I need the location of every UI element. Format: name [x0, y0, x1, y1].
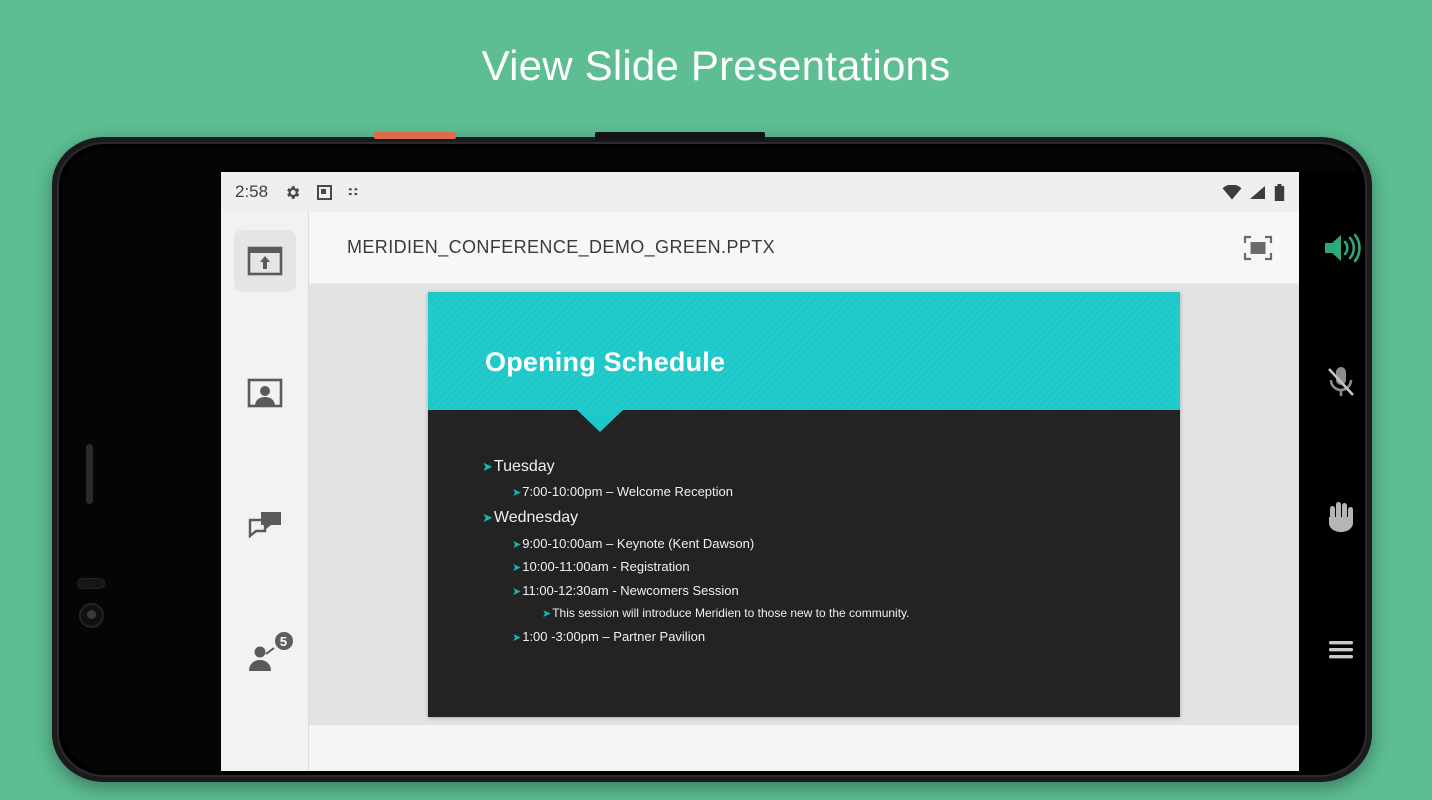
slide-bullet-text: 1:00 -3:00pm – Partner Pavilion [522, 629, 705, 646]
slide-bullet: ➤ 7:00-10:00pm – Welcome Reception [512, 484, 1140, 501]
sidebar-item-chat[interactable] [234, 494, 296, 556]
slide-bullet: ➤ 11:00-12:30am - Newcomers Session [512, 583, 1140, 600]
slide-bullet-text: 9:00-10:00am – Keynote (Kent Dawson) [522, 536, 754, 553]
signal-icon [1249, 185, 1267, 200]
main-pane: MERIDIEN_CONFERENCE_DEMO_GREEN.PPTX [309, 212, 1299, 771]
sidebar-item-participants[interactable]: 5 [234, 626, 296, 688]
bullet-arrow-icon: ➤ [512, 486, 519, 500]
slide-bullet: ➤ 1:00 -3:00pm – Partner Pavilion [512, 629, 1140, 646]
slide-bullet-text: 7:00-10:00pm – Welcome Reception [522, 484, 733, 501]
app-screen: 2:58 [221, 172, 1299, 771]
phone-frame: 2:58 [52, 137, 1372, 782]
menu-icon [1321, 632, 1361, 668]
gear-icon [284, 184, 301, 201]
slide-bullet-text: Wednesday [494, 508, 578, 528]
app-body: 5 MERIDIEN_CONFERENCE_DEMO_GREEN.PPTX [221, 212, 1299, 771]
status-clock: 2:58 [235, 182, 268, 202]
slide[interactable]: Opening Schedule ➤ Tuesday ➤ 7:00-10:00p… [428, 292, 1180, 717]
more-menu-button[interactable] [1313, 622, 1361, 678]
slide-bullet: ➤ Wednesday [482, 508, 1140, 528]
speaker-grille [86, 444, 93, 504]
front-camera [79, 603, 104, 628]
slide-title: Opening Schedule [485, 347, 725, 378]
battery-icon [1274, 184, 1285, 201]
sidebar-item-video[interactable] [234, 362, 296, 424]
cast-icon [317, 185, 332, 200]
speaker-button[interactable] [1313, 220, 1361, 276]
left-rail: 5 [221, 212, 309, 771]
microphone-muted-icon [1321, 364, 1361, 400]
power-button[interactable] [595, 132, 765, 141]
page-title: View Slide Presentations [0, 0, 1432, 132]
slide-bullet-text: This session will introduce Meridien to … [552, 606, 909, 621]
slide-bullet: ➤ 9:00-10:00am – Keynote (Kent Dawson) [512, 536, 1140, 553]
share-screen-icon [247, 245, 283, 277]
raise-hand-icon [1321, 498, 1361, 534]
video-participant-icon [247, 377, 283, 409]
status-bar: 2:58 [221, 172, 1299, 212]
participants-badge: 5 [273, 630, 295, 652]
viewport-footer [309, 724, 1299, 771]
document-header: MERIDIEN_CONFERENCE_DEMO_GREEN.PPTX [309, 212, 1299, 284]
phone-screen: 2:58 [63, 148, 1361, 771]
sidebar-item-share-screen[interactable] [234, 230, 296, 292]
chat-icon [247, 509, 283, 541]
slide-viewport: Opening Schedule ➤ Tuesday ➤ 7:00-10:00p… [309, 284, 1299, 724]
bullet-arrow-icon: ➤ [482, 510, 491, 527]
slide-bullet: ➤ Tuesday [482, 457, 1140, 477]
volume-button[interactable] [374, 132, 456, 139]
slide-bullet-text: 11:00-12:30am - Newcomers Session [522, 583, 739, 600]
document-title: MERIDIEN_CONFERENCE_DEMO_GREEN.PPTX [347, 237, 1243, 258]
fullscreen-icon[interactable] [1243, 235, 1273, 261]
wifi-icon [1222, 185, 1242, 200]
call-controls-rail [1299, 172, 1361, 771]
slide-bullet: ➤ 10:00-11:00am - Registration [512, 559, 1140, 576]
phone-bezel: 2:58 [57, 142, 1367, 777]
slide-bullet-text: 10:00-11:00am - Registration [522, 559, 689, 576]
bullet-arrow-icon: ➤ [482, 459, 491, 476]
dots-icon [348, 187, 361, 197]
slide-bullet: ➤ This session will introduce Meridien t… [542, 606, 1140, 621]
bullet-arrow-icon: ➤ [512, 538, 519, 552]
proximity-sensor [77, 578, 105, 589]
slide-bullet-text: Tuesday [494, 457, 555, 477]
mute-button[interactable] [1313, 354, 1361, 410]
bullet-arrow-icon: ➤ [512, 631, 519, 645]
bullet-arrow-icon: ➤ [542, 607, 549, 621]
speaker-on-icon [1321, 230, 1361, 266]
raise-hand-button[interactable] [1313, 488, 1361, 544]
bullet-arrow-icon: ➤ [512, 585, 519, 599]
bullet-arrow-icon: ➤ [512, 561, 519, 575]
slide-body: ➤ Tuesday ➤ 7:00-10:00pm – Welcome Recep… [428, 410, 1180, 717]
